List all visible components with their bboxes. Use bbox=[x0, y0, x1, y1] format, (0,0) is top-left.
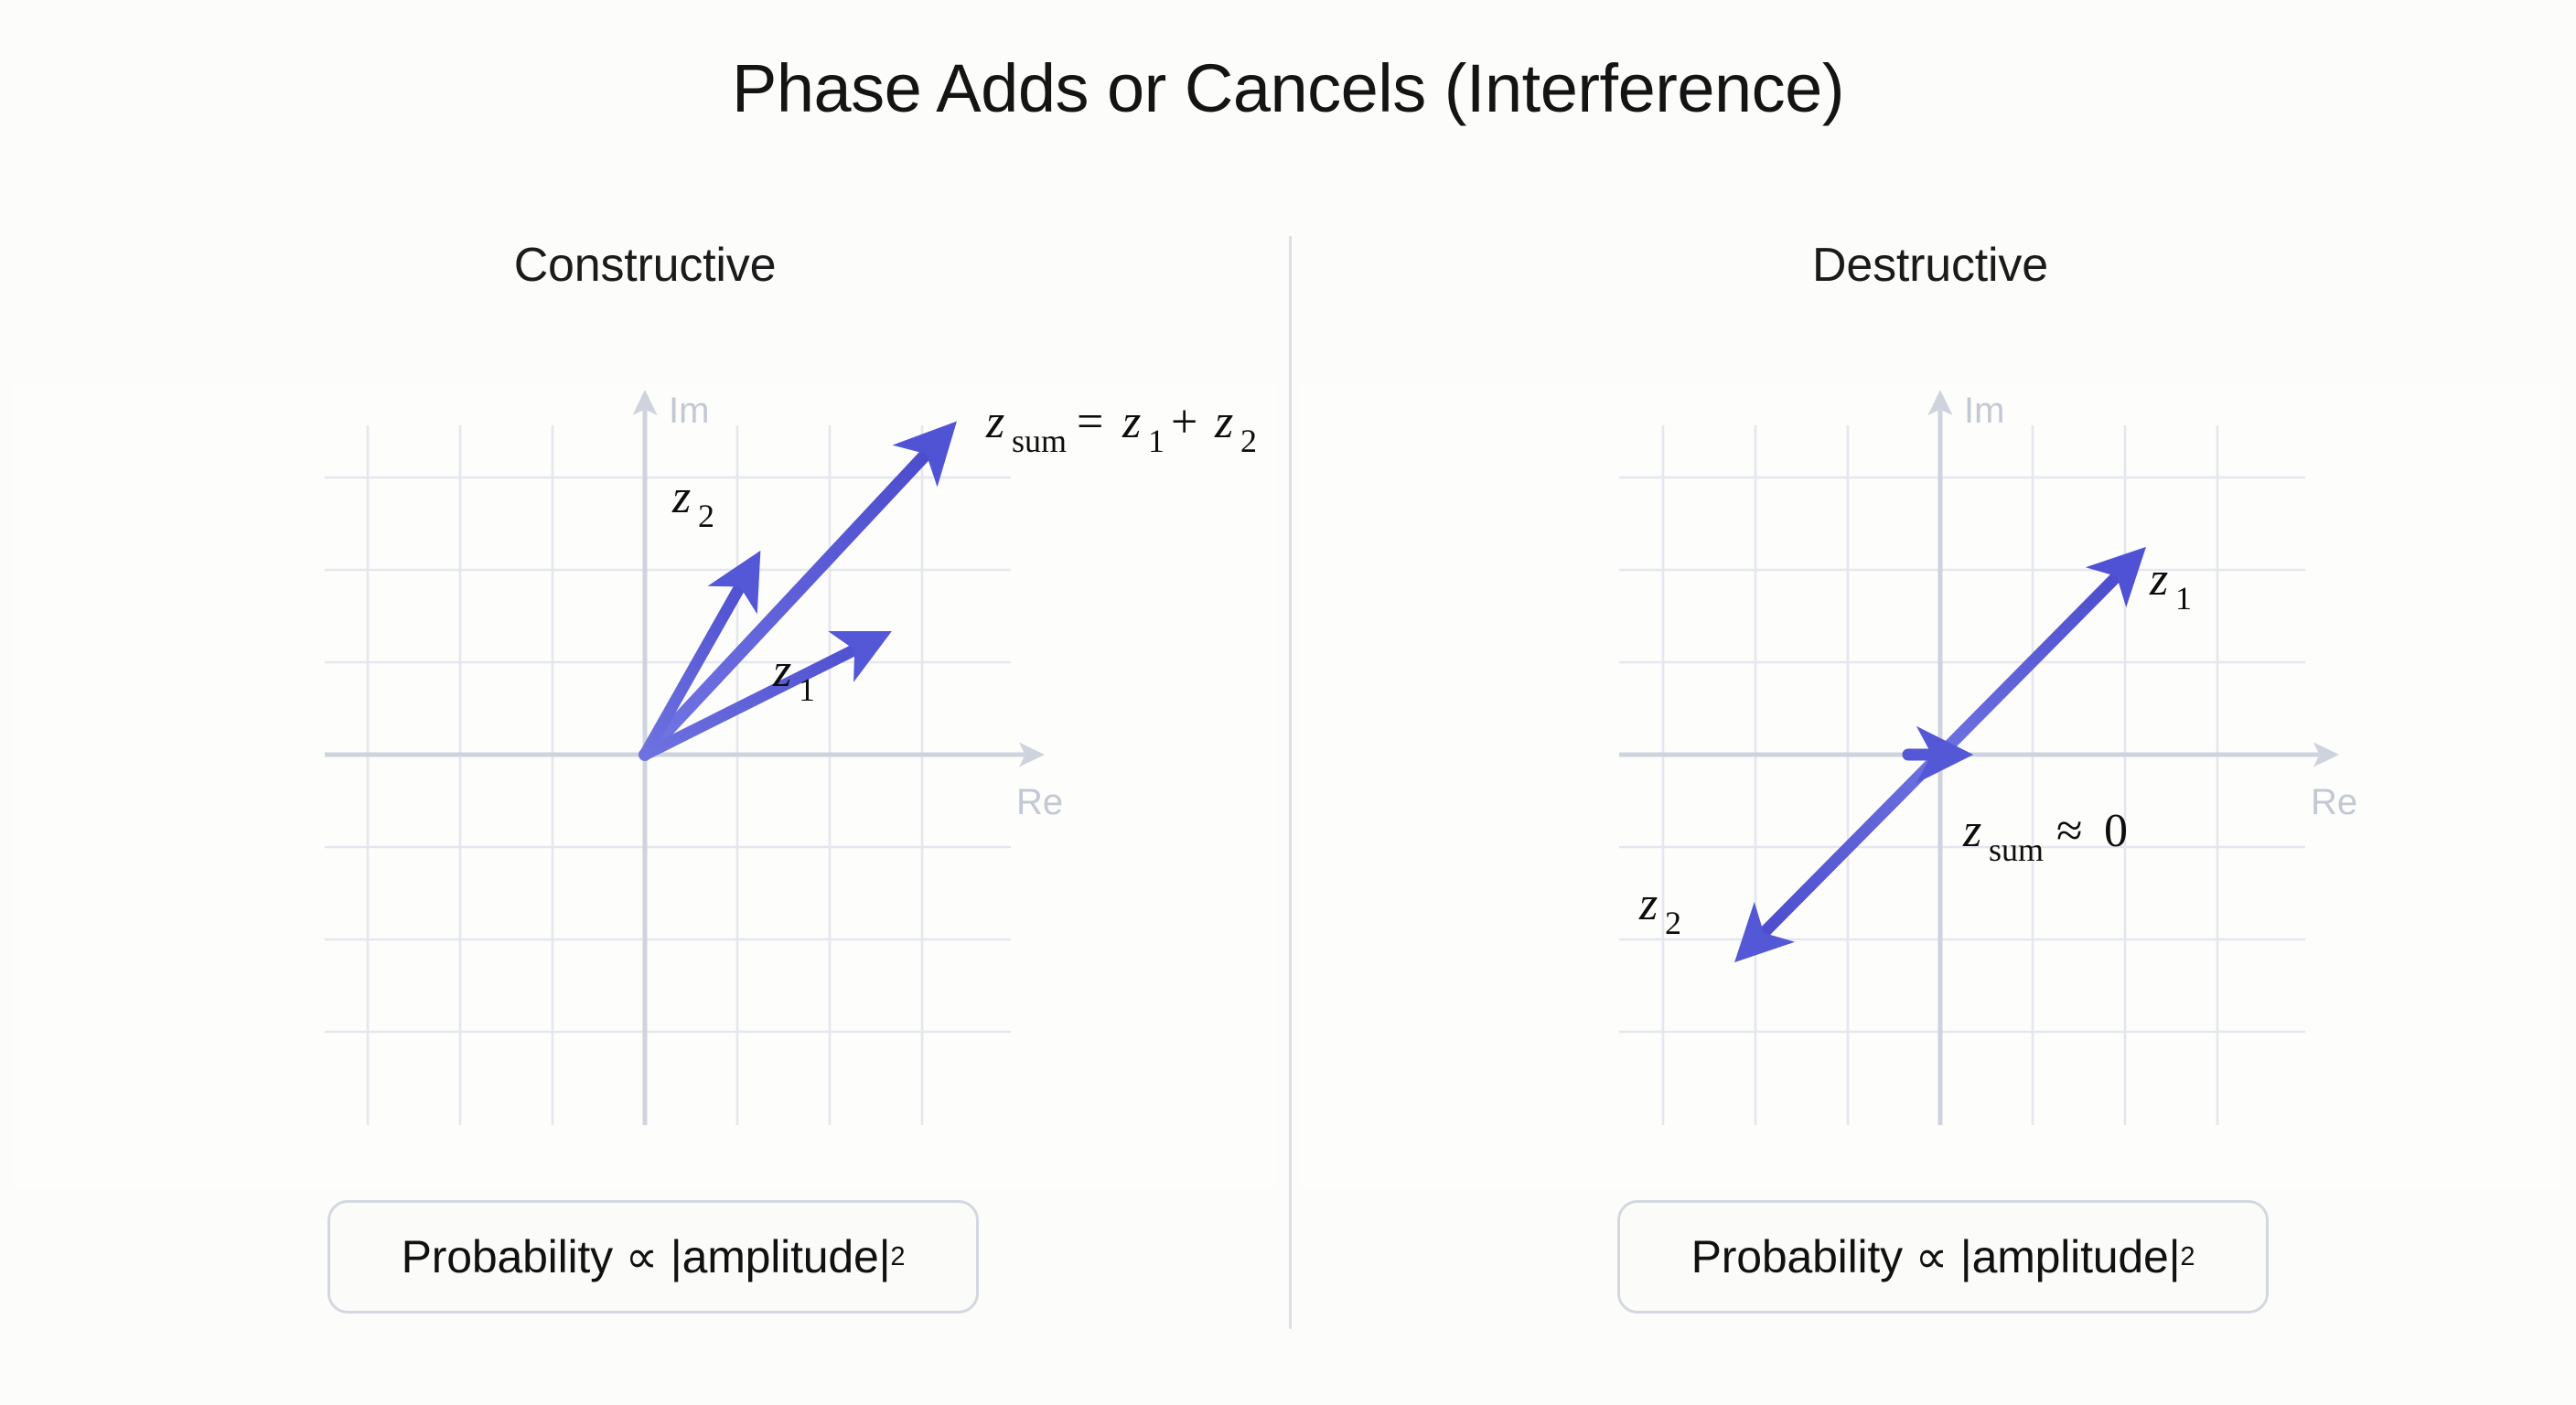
svg-text:0: 0 bbox=[2104, 805, 2128, 857]
svg-text:z: z bbox=[1962, 805, 1981, 857]
svg-text:+: + bbox=[1171, 396, 1197, 448]
real-axis-label: Re bbox=[2311, 782, 2357, 822]
svg-text:z: z bbox=[1122, 396, 1141, 448]
panel-divider bbox=[1289, 236, 1292, 1329]
panel-heading-destructive: Destructive bbox=[1299, 238, 2561, 293]
svg-text:z: z bbox=[1638, 878, 1658, 930]
complex-plane-constructive: Im Re z 2 z 1 z sum bbox=[14, 384, 1276, 1189]
page-title: Phase Adds or Cancels (Interference) bbox=[0, 51, 2576, 125]
svg-text:sum: sum bbox=[1989, 831, 2044, 868]
svg-text:1: 1 bbox=[2175, 580, 2192, 617]
panel-destructive: Destructive bbox=[1299, 238, 2561, 1345]
panel-constructive: Constructive bbox=[14, 238, 1276, 1345]
svg-text:z: z bbox=[2149, 553, 2168, 606]
svg-text:z: z bbox=[985, 396, 1004, 448]
svg-text:z: z bbox=[671, 471, 691, 523]
formula-chip-destructive: Probability ∝ |amplitude|2 bbox=[1617, 1200, 2269, 1314]
complex-plane-destructive: Im Re z 1 z 2 z sum bbox=[1299, 384, 2561, 1189]
svg-text:2: 2 bbox=[698, 498, 714, 534]
svg-text:z: z bbox=[772, 645, 791, 697]
formula-text: Probability ∝ |amplitude| bbox=[1691, 1230, 2181, 1283]
svg-text:2: 2 bbox=[1665, 905, 1681, 941]
svg-text:2: 2 bbox=[1240, 423, 1257, 459]
plot-background bbox=[1299, 384, 2561, 1189]
svg-text:≈: ≈ bbox=[2056, 805, 2083, 857]
svg-text:z: z bbox=[1214, 396, 1233, 448]
imaginary-axis-label: Im bbox=[669, 391, 709, 431]
formula-text: Probability ∝ |amplitude| bbox=[402, 1230, 891, 1283]
formula-chip-constructive: Probability ∝ |amplitude|2 bbox=[327, 1200, 979, 1314]
imaginary-axis-label: Im bbox=[1964, 391, 2004, 431]
svg-text:1: 1 bbox=[1148, 423, 1165, 459]
panel-heading-constructive: Constructive bbox=[14, 238, 1276, 293]
real-axis-label: Re bbox=[1016, 782, 1063, 822]
svg-text:=: = bbox=[1077, 396, 1103, 448]
svg-text:sum: sum bbox=[1012, 423, 1067, 459]
svg-text:1: 1 bbox=[799, 671, 815, 708]
